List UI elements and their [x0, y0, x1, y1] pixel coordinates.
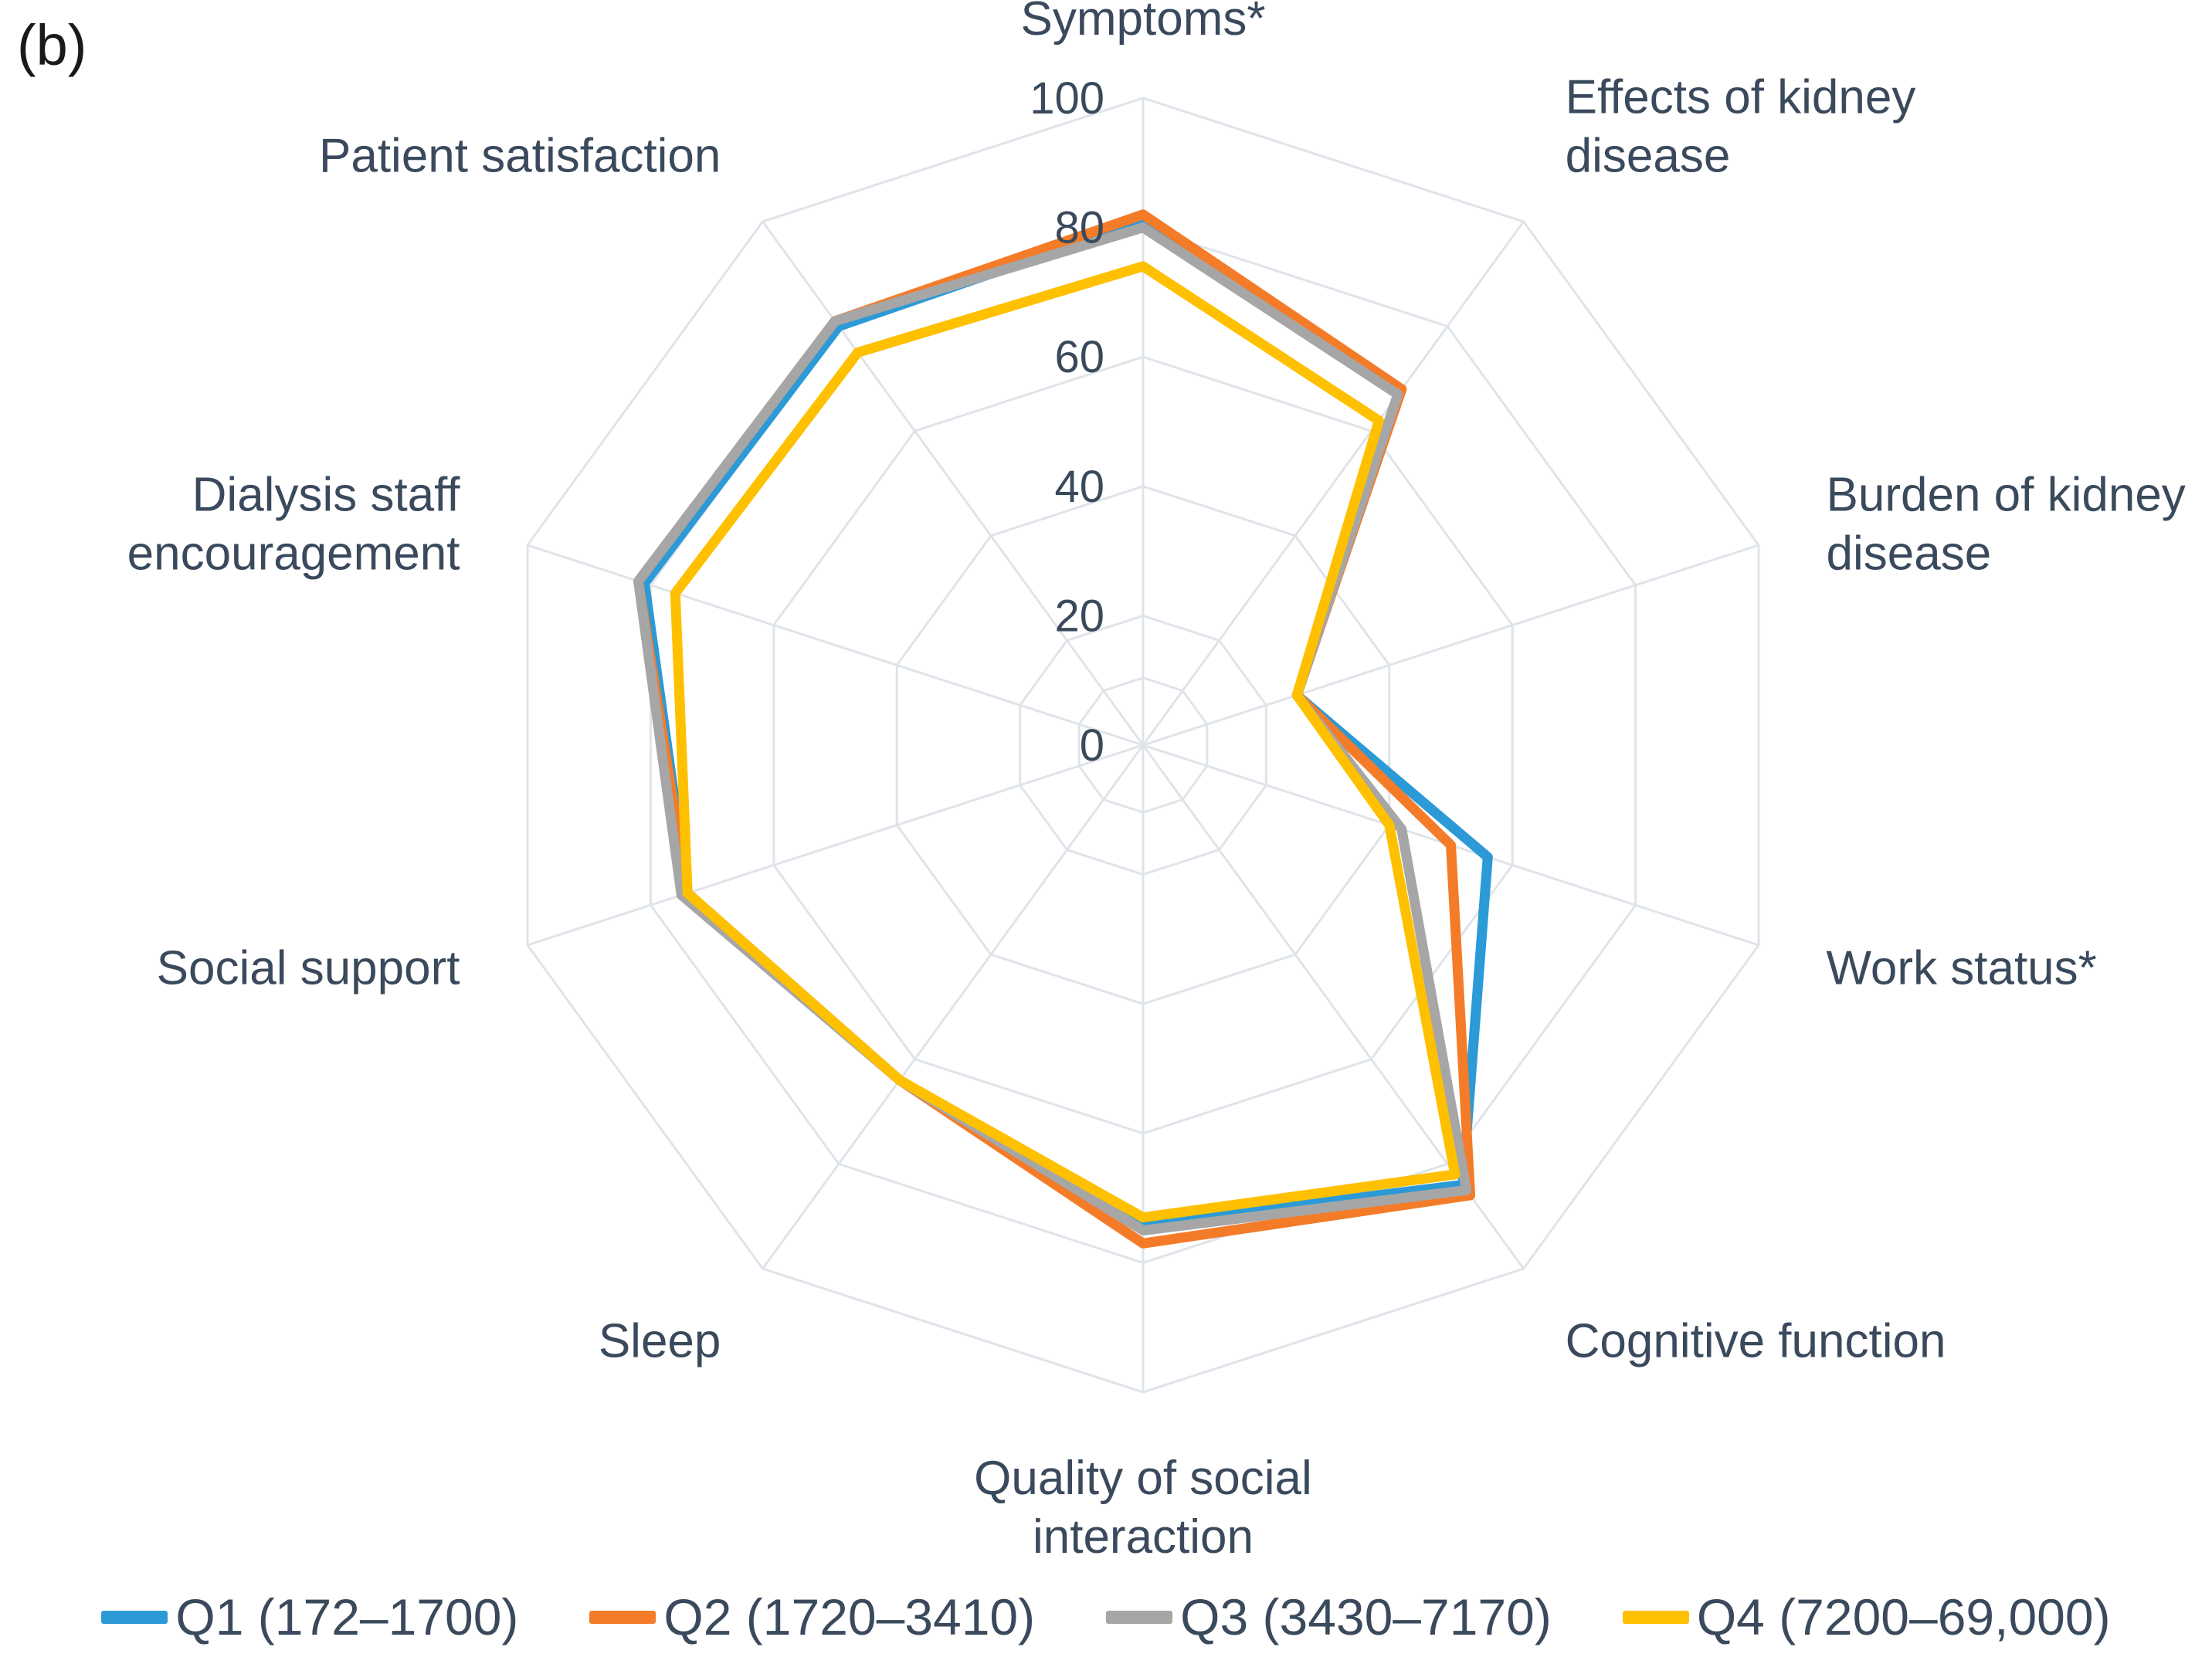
axis-label-9: Patient satisfaction: [319, 130, 721, 183]
axis-label-7: Social support: [157, 941, 460, 995]
axis-label-4: Cognitive function: [1566, 1314, 1946, 1367]
legend-swatch-icon: [1623, 1611, 1689, 1624]
axis-label-1: Effects of kidneydisease: [1566, 71, 1916, 183]
chart-legend: Q1 (172–1700)Q2 (1720–3410)Q3 (3430–7170…: [0, 1571, 2212, 1662]
axis-label-5: Quality of socialinteraction: [974, 1452, 1312, 1560]
axis-label-3: Work status*: [1827, 941, 2097, 995]
grid-layer: [528, 98, 1759, 1392]
radial-tick-label-100: 100: [1030, 73, 1104, 124]
axis-label-8: Dialysis staffencouragement: [127, 469, 461, 581]
legend-label: Q3 (3430–7170): [1180, 1588, 1552, 1646]
legend-label: Q1 (172–1700): [175, 1588, 518, 1646]
tick-label-layer: 020406080100: [1030, 73, 1104, 771]
axis-label-2: Burden of kidneydisease: [1827, 469, 2186, 581]
radial-tick-label-40: 40: [1054, 462, 1104, 512]
radar-figure: (b) 020406080100 Symptoms*Effects of kid…: [0, 0, 2212, 1664]
legend-label: Q2 (1720–3410): [663, 1588, 1035, 1646]
legend-label: Q4 (7200–69,000): [1697, 1588, 2111, 1646]
radial-tick-label-60: 60: [1054, 332, 1104, 382]
grid-spoke-8: [528, 545, 1143, 745]
legend-item-3[interactable]: Q3 (3430–7170): [1106, 1588, 1552, 1646]
radial-tick-label-20: 20: [1054, 591, 1104, 641]
legend-swatch-icon: [589, 1611, 656, 1624]
legend-item-2[interactable]: Q2 (1720–3410): [589, 1588, 1035, 1646]
radar-svg: 020406080100 Symptoms*Effects of kidneyd…: [0, 0, 2212, 1560]
legend-item-4[interactable]: Q4 (7200–69,000): [1623, 1588, 2111, 1646]
legend-item-1[interactable]: Q1 (172–1700): [101, 1588, 518, 1646]
grid-spoke-7: [528, 745, 1143, 945]
radial-tick-label-0: 0: [1080, 720, 1104, 771]
radar-chart-area: 020406080100 Symptoms*Effects of kidneyd…: [0, 0, 2212, 1560]
radial-tick-label-80: 80: [1054, 203, 1104, 253]
axis-label-6: Sleep: [599, 1314, 721, 1367]
legend-swatch-icon: [1106, 1611, 1172, 1624]
axis-label-0: Symptoms*: [1021, 0, 1266, 46]
legend-swatch-icon: [101, 1611, 168, 1624]
grid-spoke-2: [1143, 545, 1759, 745]
